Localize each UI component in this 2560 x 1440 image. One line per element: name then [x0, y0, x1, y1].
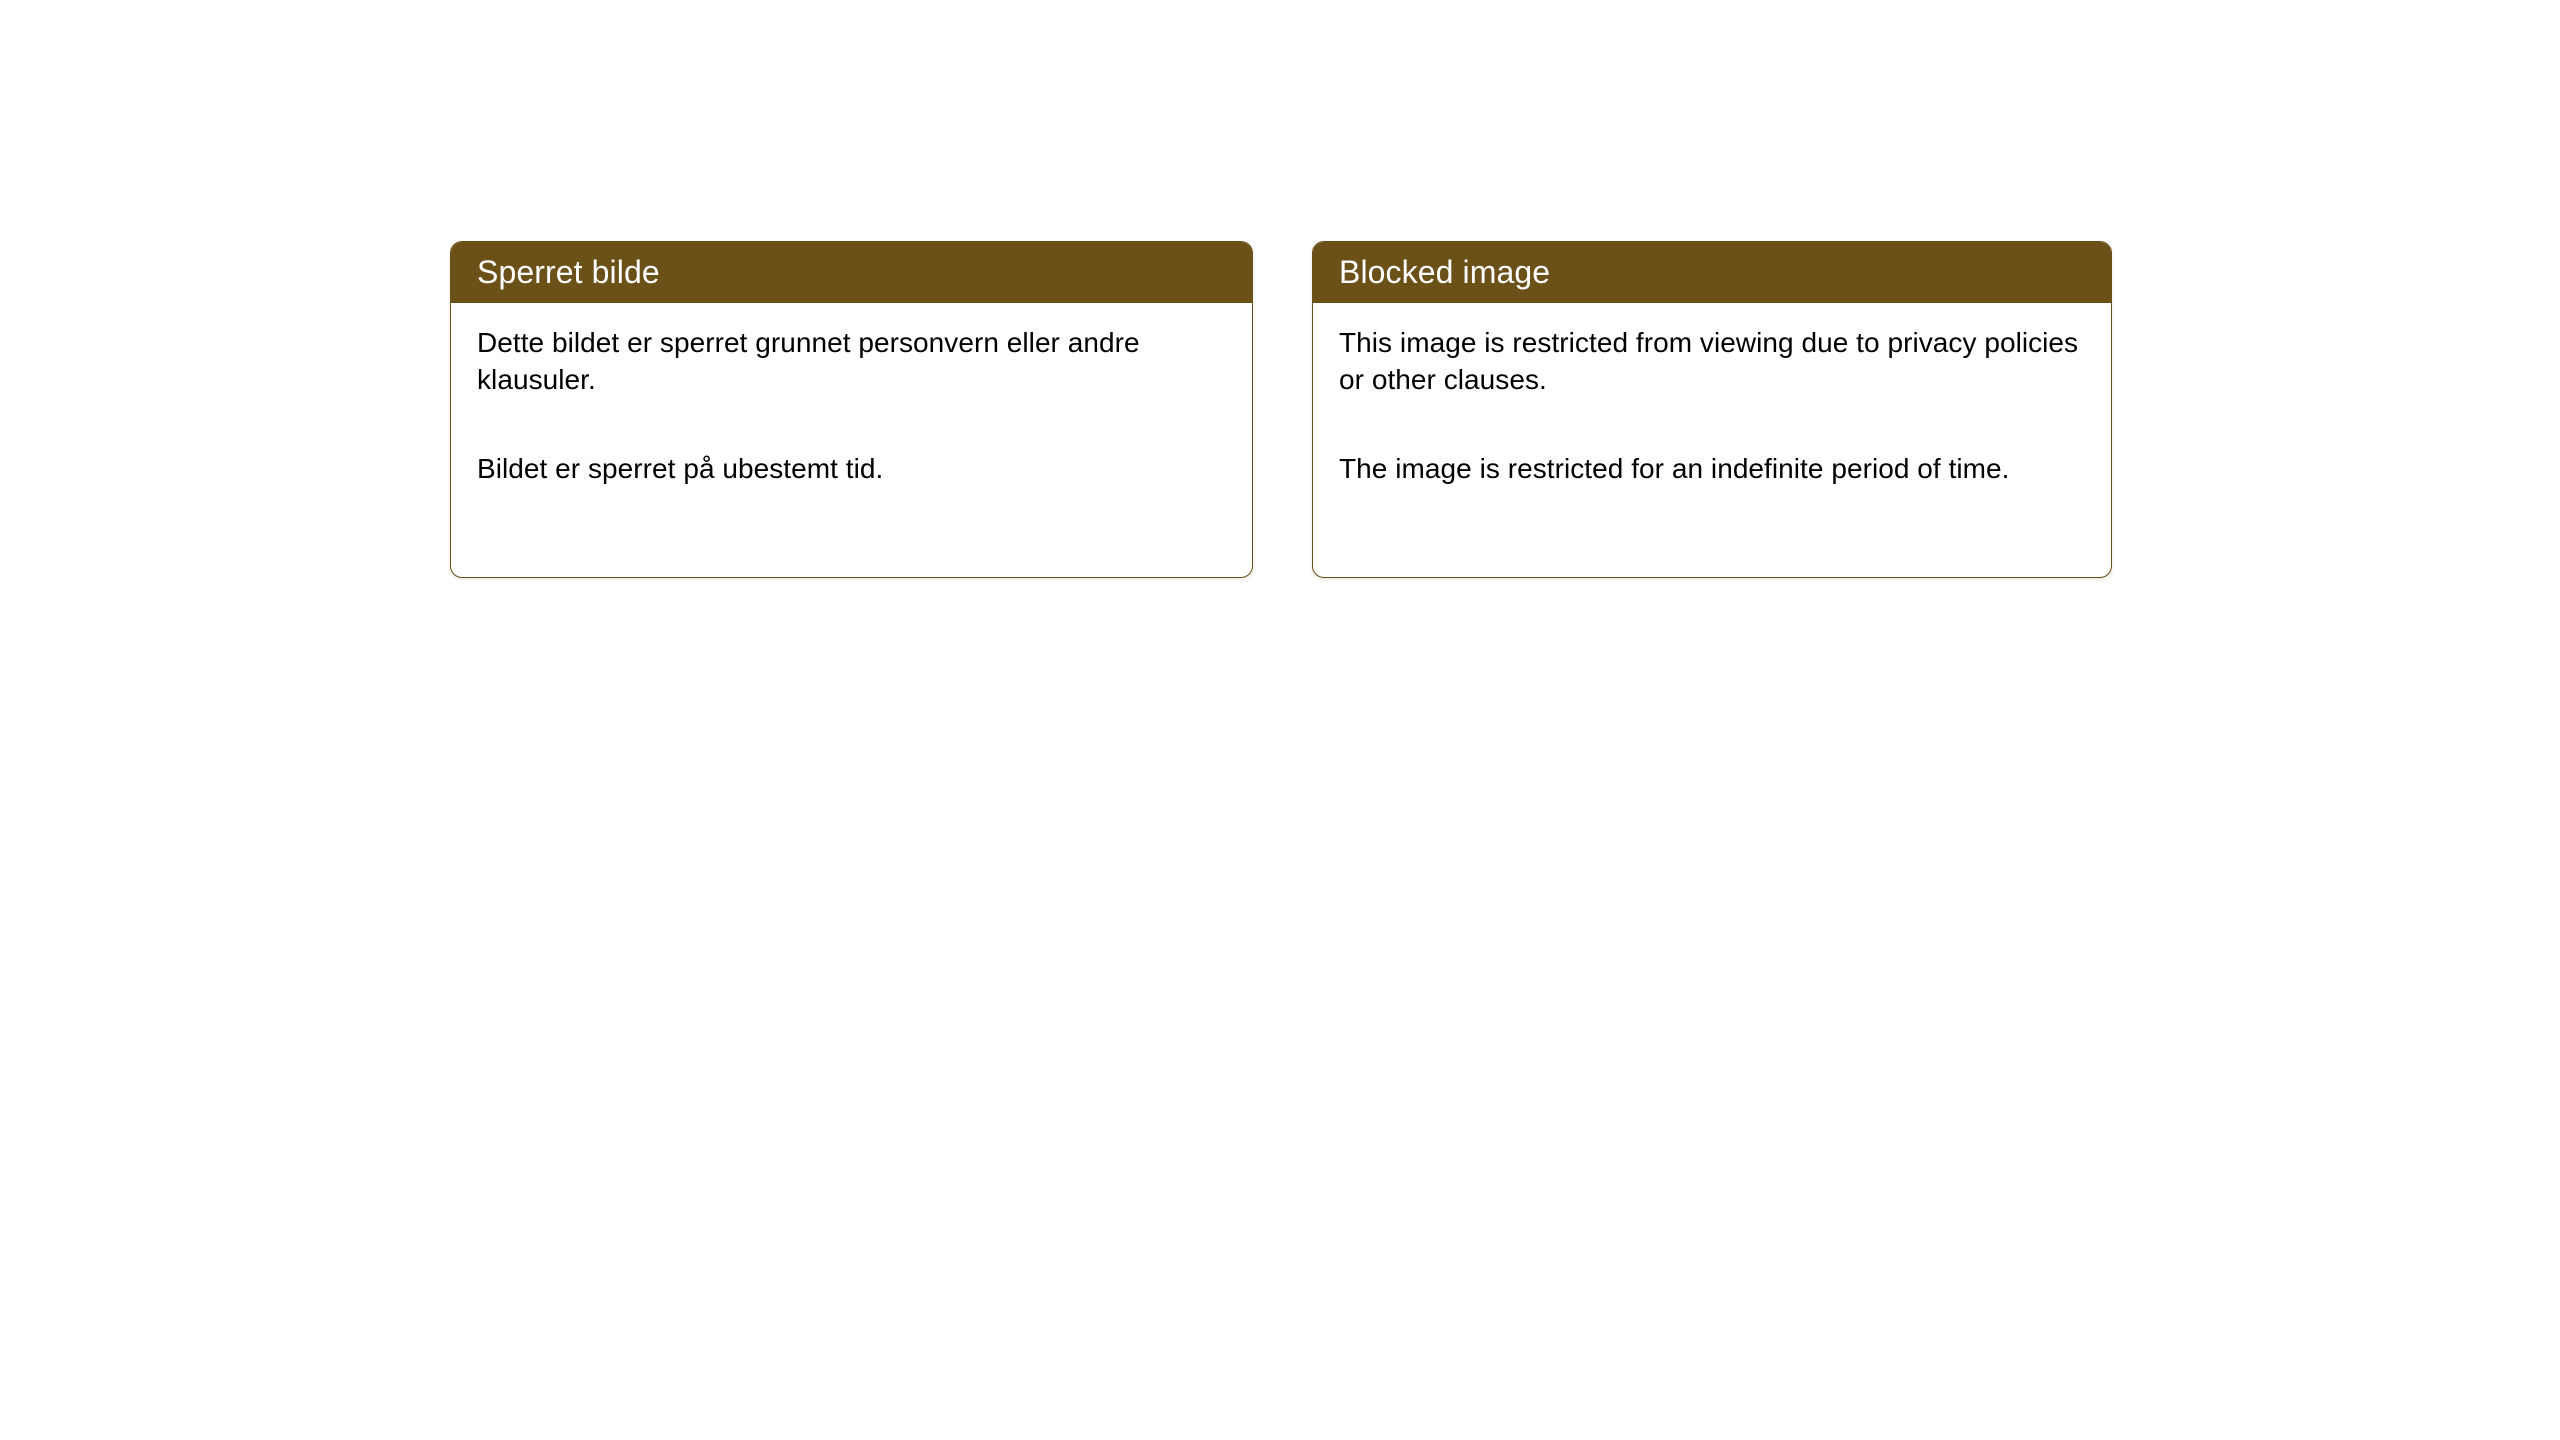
- card-header-english: Blocked image: [1313, 242, 2111, 303]
- blocked-image-card-english: Blocked image This image is restricted f…: [1312, 241, 2112, 578]
- blocked-image-notice-row: Sperret bilde Dette bildet er sperret gr…: [450, 241, 2112, 578]
- card-paragraph-english-2: The image is restricted for an indefinit…: [1339, 451, 2085, 488]
- card-body-english: This image is restricted from viewing du…: [1313, 303, 2111, 488]
- card-paragraph-norwegian-1: Dette bildet er sperret grunnet personve…: [477, 325, 1226, 399]
- page-root: Sperret bilde Dette bildet er sperret gr…: [0, 0, 2560, 1440]
- card-title-norwegian: Sperret bilde: [477, 255, 660, 290]
- card-paragraph-norwegian-2: Bildet er sperret på ubestemt tid.: [477, 451, 1226, 488]
- card-title-english: Blocked image: [1339, 255, 1550, 290]
- card-paragraph-english-1: This image is restricted from viewing du…: [1339, 325, 2085, 399]
- blocked-image-card-norwegian: Sperret bilde Dette bildet er sperret gr…: [450, 241, 1253, 578]
- card-body-norwegian: Dette bildet er sperret grunnet personve…: [451, 303, 1252, 488]
- card-header-norwegian: Sperret bilde: [451, 242, 1252, 303]
